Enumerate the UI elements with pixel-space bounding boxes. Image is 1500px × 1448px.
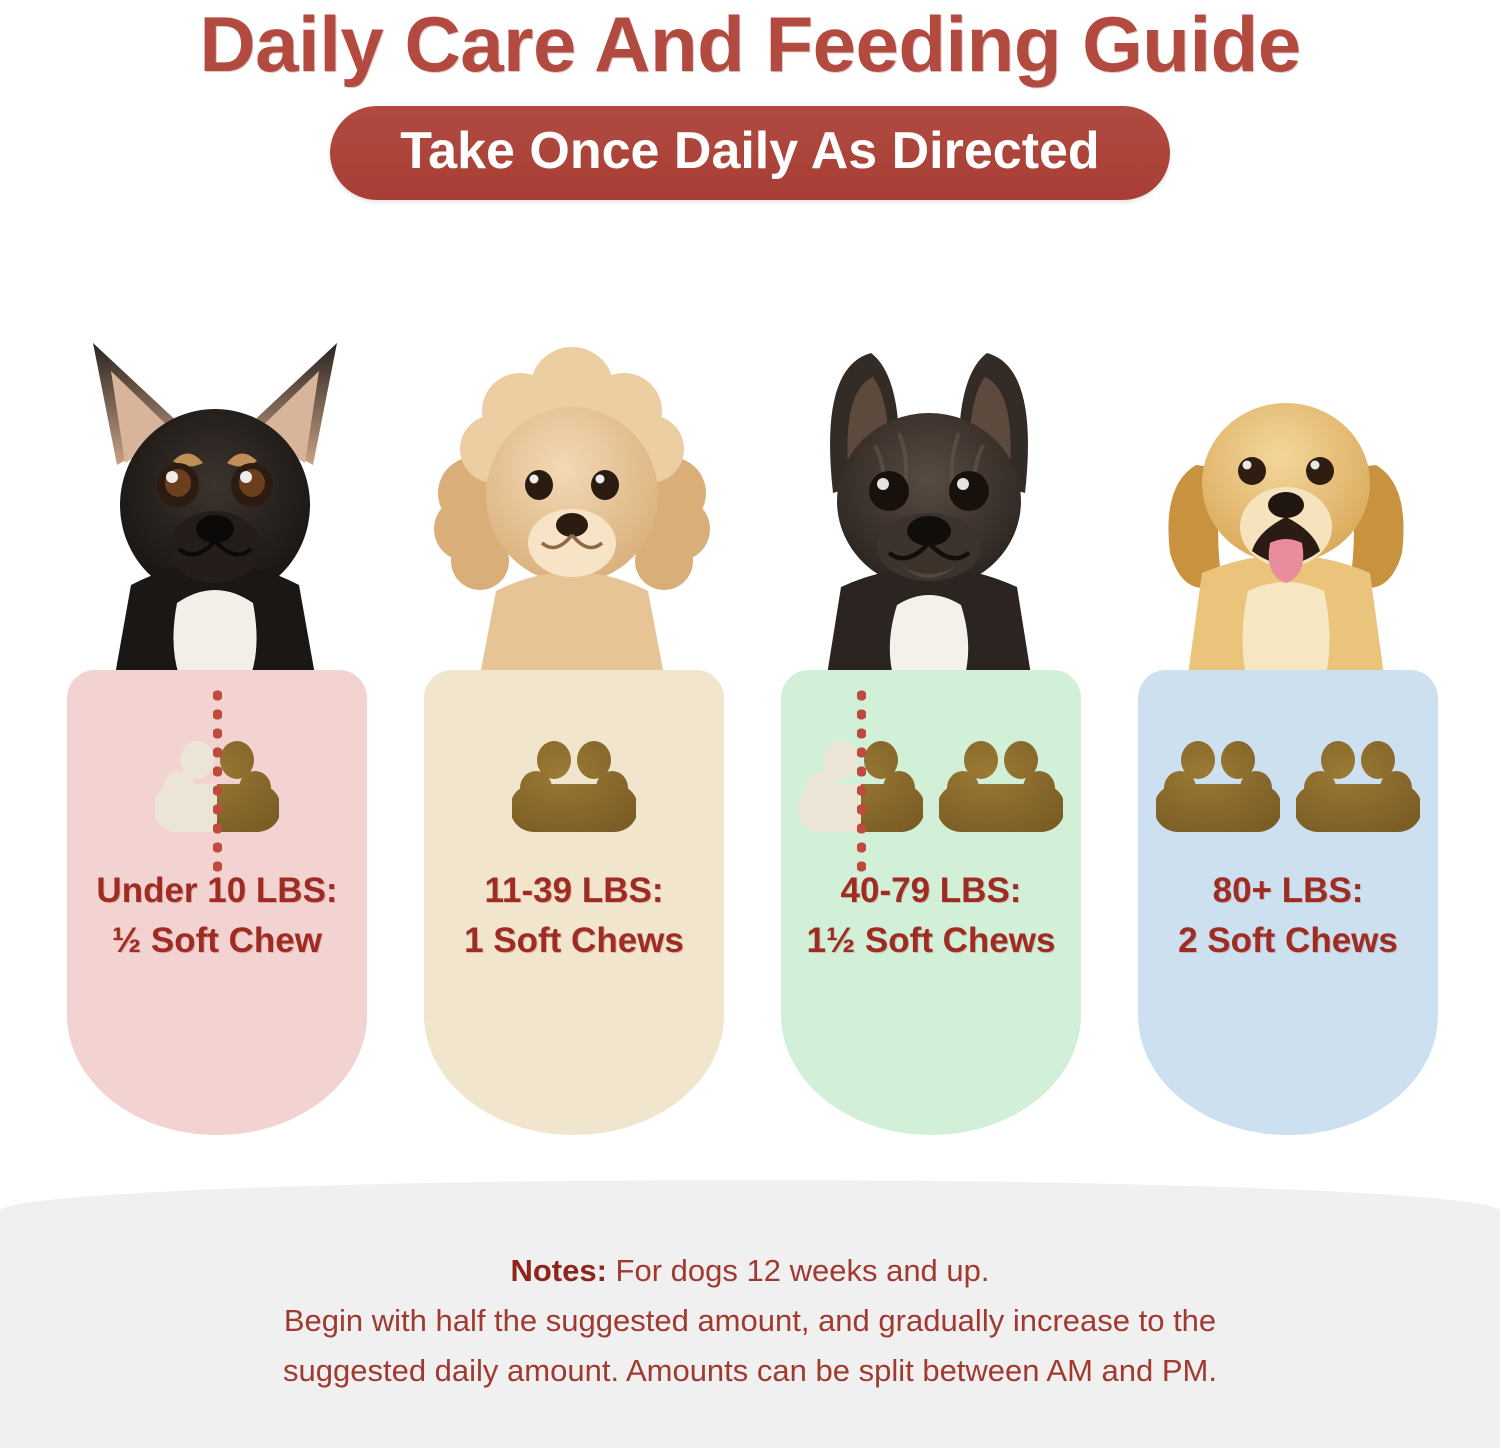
dog-photo-golden-retriever <box>1118 310 1453 675</box>
weight-label: 40-79 LBS: <box>841 871 1022 910</box>
notes-line-3: suggested daily amount. Amounts can be s… <box>0 1346 1500 1396</box>
chew-graphic-group <box>781 708 1081 858</box>
chew-full <box>939 724 1063 842</box>
half-divider-line <box>857 686 866 880</box>
chew-full <box>512 724 636 842</box>
chew-half <box>799 724 923 842</box>
panel-mint: 40-79 LBS: 1½ Soft Chews <box>781 670 1081 1135</box>
dose-label: 1 Soft Chews <box>424 916 724 966</box>
weight-label: 11-39 LBS: <box>485 871 664 910</box>
notes-footer: Notes: For dogs 12 weeks and up. Begin w… <box>0 1180 1500 1448</box>
banner-wrap: Take Once Daily As Directed <box>0 106 1500 201</box>
chew-half <box>155 724 279 842</box>
panel-text: 80+ LBS: 2 Soft Chews <box>1138 866 1438 965</box>
notes-text: Notes: For dogs 12 weeks and up. Begin w… <box>0 1180 1500 1397</box>
notes-line1-rest: For dogs 12 weeks and up. <box>607 1253 990 1288</box>
notes-label: Notes: <box>510 1253 606 1288</box>
feeding-card: 40-79 LBS: 1½ Soft Chews <box>761 310 1096 1170</box>
directions-banner: Take Once Daily As Directed <box>330 106 1169 201</box>
panel-text: 40-79 LBS: 1½ Soft Chews <box>781 866 1081 965</box>
page-title: Daily Care And Feeding Guide <box>0 4 1500 86</box>
dose-label: 2 Soft Chews <box>1138 916 1438 966</box>
panel-text: Under 10 LBS: ½ Soft Chew <box>67 866 367 965</box>
feeding-card: 11-39 LBS: 1 Soft Chews <box>404 310 739 1170</box>
notes-line-1: Notes: For dogs 12 weeks and up. <box>0 1246 1500 1296</box>
panel-cream: 11-39 LBS: 1 Soft Chews <box>424 670 724 1135</box>
feeding-card: Under 10 LBS: ½ Soft Chew <box>47 310 382 1170</box>
dog-photo-french-bulldog <box>761 310 1096 675</box>
panel-text: 11-39 LBS: 1 Soft Chews <box>424 866 724 965</box>
dose-label: 1½ Soft Chews <box>781 916 1081 966</box>
feeding-cards: Under 10 LBS: ½ Soft Chew <box>0 310 1500 1170</box>
panel-pink: Under 10 LBS: ½ Soft Chew <box>67 670 367 1135</box>
half-divider-line <box>213 686 222 880</box>
feeding-card: 80+ LBS: 2 Soft Chews <box>1118 310 1453 1170</box>
chew-graphic-group <box>424 708 724 858</box>
weight-label: 80+ LBS: <box>1213 871 1364 910</box>
chew-full <box>1156 724 1280 842</box>
dog-photo-chihuahua <box>47 310 382 675</box>
dose-label: ½ Soft Chew <box>67 916 367 966</box>
chew-full <box>1296 724 1420 842</box>
panel-blue: 80+ LBS: 2 Soft Chews <box>1138 670 1438 1135</box>
dog-photo-poodle <box>404 310 739 675</box>
header: Daily Care And Feeding Guide Take Once D… <box>0 0 1500 200</box>
chew-graphic-group <box>1138 708 1438 858</box>
notes-line-2: Begin with half the suggested amount, an… <box>0 1296 1500 1346</box>
chew-graphic-group <box>67 708 367 858</box>
